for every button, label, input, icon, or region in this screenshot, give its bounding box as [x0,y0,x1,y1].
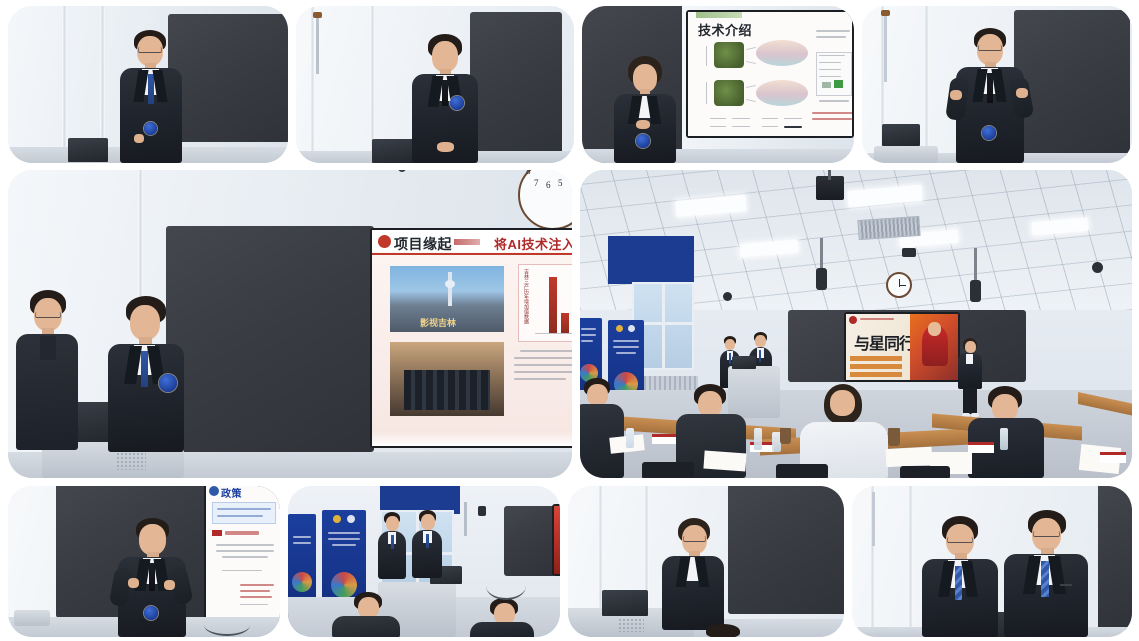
slide-title-r1c3: 技术介绍 [698,20,752,39]
photo-tile-r3c3[interactable] [568,486,844,637]
scene-r1c4 [862,6,1132,163]
slide-vertical-label-r2c1: 吉林三产历年增加值数据 [523,269,530,339]
audience-1 [332,592,402,637]
wall-clock-r2c2 [886,272,912,298]
photo-tile-r1c3[interactable]: 技术介绍 [582,6,854,163]
presentation-screen-r1c3: 技术介绍 [686,10,854,138]
scene-r3c2 [288,486,560,637]
scene-r1c2 [296,6,574,163]
scene-r2c2: 与星同行 [580,170,1132,478]
judge-1 [580,378,626,478]
photo-tile-r3c4[interactable] [852,486,1132,637]
scene-r2c1: 8 7 6 5 项目缘起 将AI技术注入吉林 影视吉林 [8,170,572,478]
slide-title-r2c1: 项目缘起 [394,234,452,254]
window-blind [608,236,694,284]
photo-collage: 技术介绍 [0,0,1139,641]
presentation-screen-r2c1: 项目缘起 将AI技术注入吉林 影视吉林 吉林三产历年增加值数据 [370,228,572,448]
photo-tile-r2c2[interactable]: 与星同行 [580,170,1132,478]
audience-2 [470,598,536,637]
photo-tile-r3c2[interactable] [288,486,560,637]
scene-r3c1: 政策 [8,486,280,637]
scene-r1c1 [8,6,288,163]
photo-tile-r2c1[interactable]: 8 7 6 5 项目缘起 将AI技术注入吉林 影视吉林 [8,170,572,478]
scene-r3c3 [568,486,844,637]
presentation-screen-r3c1: 政策 [204,486,280,622]
screen-title-r2c2: 与星同行 [854,330,914,354]
slide-title-r3c1: 政策 [221,486,242,500]
photo-tile-r1c4[interactable] [862,6,1132,163]
photo-tile-r1c1[interactable] [8,6,288,163]
presentation-screen-r2c2: 与星同行 [844,312,960,382]
slide-headline-r2c1: 将AI技术注入吉林 [494,234,572,253]
photo-tile-r1c2[interactable] [296,6,574,163]
audience-head-r3c3 [706,624,740,637]
scene-r1c3: 技术介绍 [582,6,854,163]
photo-tile-r3c1[interactable]: 政策 [8,486,280,637]
scene-r3c4 [852,486,1132,637]
